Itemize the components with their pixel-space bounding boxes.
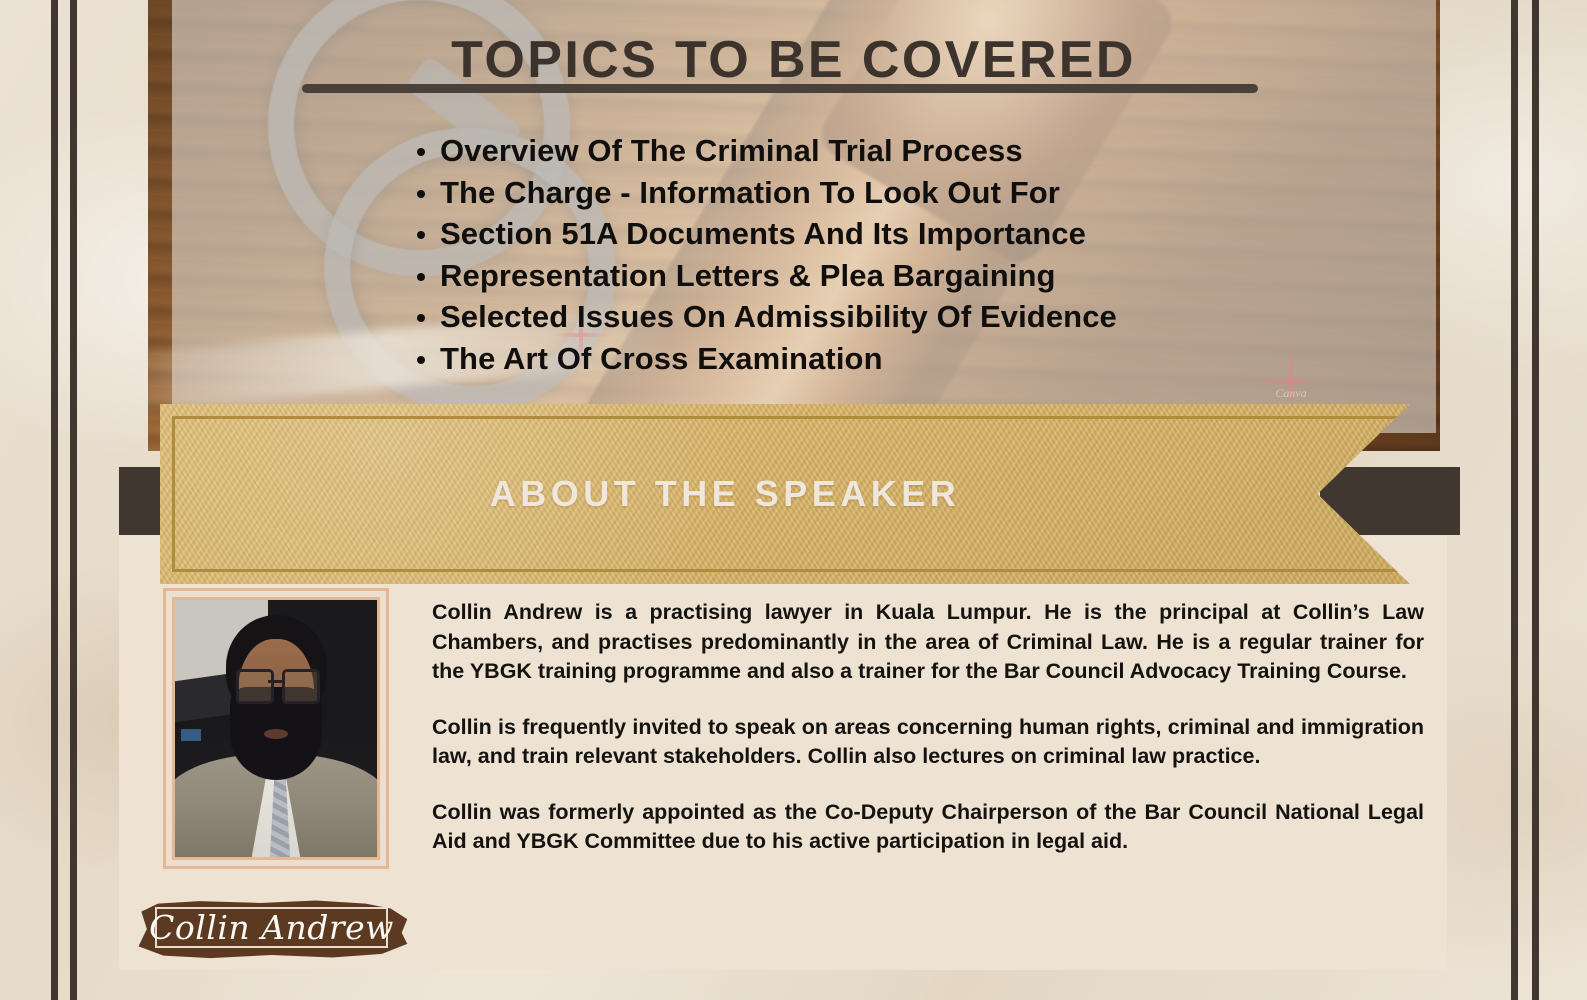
speaker-name: Collin Andrew: [133, 898, 410, 960]
list-item: The Charge - Information To Look Out For: [404, 172, 1117, 214]
topics-list: Overview Of The Criminal Trial Process T…: [404, 130, 1117, 379]
page-title: TOPICS TO BE COVERED: [0, 30, 1587, 90]
photo-background-highlight: [181, 729, 201, 742]
frame-rule-right-outer: [1532, 0, 1539, 1000]
frame-rule-right-inner: [1511, 0, 1518, 1000]
frame-rule-left-inner: [70, 0, 77, 1000]
section-heading: ABOUT THE SPEAKER: [160, 404, 1290, 584]
bio-paragraph: Collin was formerly appointed as the Co-…: [432, 798, 1424, 857]
photo-glasses-bridge: [268, 680, 282, 683]
list-item: Representation Letters & Plea Bargaining: [404, 255, 1117, 297]
photo-mouth: [264, 729, 288, 739]
list-item: Section 51A Documents And Its Importance: [404, 213, 1117, 255]
speaker-photo-frame: [163, 588, 389, 869]
title-underline: [302, 84, 1258, 93]
frame-rule-left-outer: [51, 0, 58, 1000]
photo-glasses-right-lens: [282, 669, 320, 703]
list-item: Overview Of The Criminal Trial Process: [404, 130, 1117, 172]
speaker-bio: Collin Andrew is a practising lawyer in …: [432, 598, 1424, 857]
list-item: Selected Issues On Admissibility Of Evid…: [404, 296, 1117, 338]
about-the-speaker-ribbon: ABOUT THE SPEAKER: [160, 404, 1410, 584]
bio-paragraph: Collin Andrew is a practising lawyer in …: [432, 598, 1424, 687]
list-item: The Art Of Cross Examination: [404, 338, 1117, 380]
speaker-photo: [175, 600, 377, 857]
photo-glasses-left-lens: [236, 669, 274, 703]
speaker-name-badge: Collin Andrew: [133, 898, 410, 960]
bio-paragraph: Collin is frequently invited to speak on…: [432, 713, 1424, 772]
